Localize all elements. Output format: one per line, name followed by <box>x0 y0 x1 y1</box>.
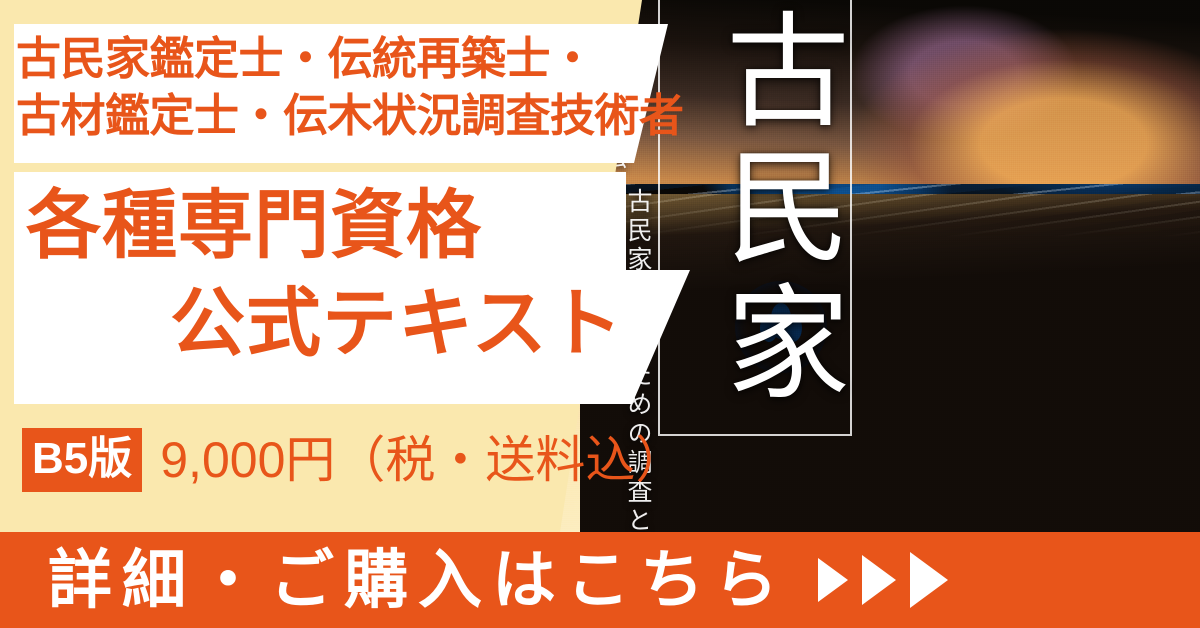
triangle-right-icon <box>818 558 848 602</box>
main-title-line-2: 公式テキスト <box>170 286 624 361</box>
cta-arrows <box>818 552 948 608</box>
format-badge: B5版 <box>22 428 142 492</box>
price-row: B5版 9,000円（税・送料込） <box>22 428 685 492</box>
qualifications-line-1: 古民家鑑定士・伝統再築士・ <box>16 30 716 87</box>
cta-label: 詳細・ご購入はこちら <box>48 548 788 612</box>
main-title-line-1: 各種専門資格 <box>26 188 482 263</box>
promo-banner: 古民家 伝統構法 古民家活用のための調査と再生の 古民家鑑定士・伝統再築士・ 古… <box>0 0 1200 628</box>
triangle-right-icon <box>910 552 948 608</box>
qualifications-headline: 古民家鑑定士・伝統再築士・ 古材鑑定士・伝木状況調査技術者 <box>16 30 716 144</box>
price-text: 9,000円（税・送料込） <box>160 435 685 485</box>
triangle-right-icon <box>862 555 896 605</box>
qualifications-line-2: 古材鑑定士・伝木状況調査技術者 <box>16 87 716 144</box>
cta-bar[interactable]: 詳細・ご購入はこちら <box>0 532 1200 628</box>
